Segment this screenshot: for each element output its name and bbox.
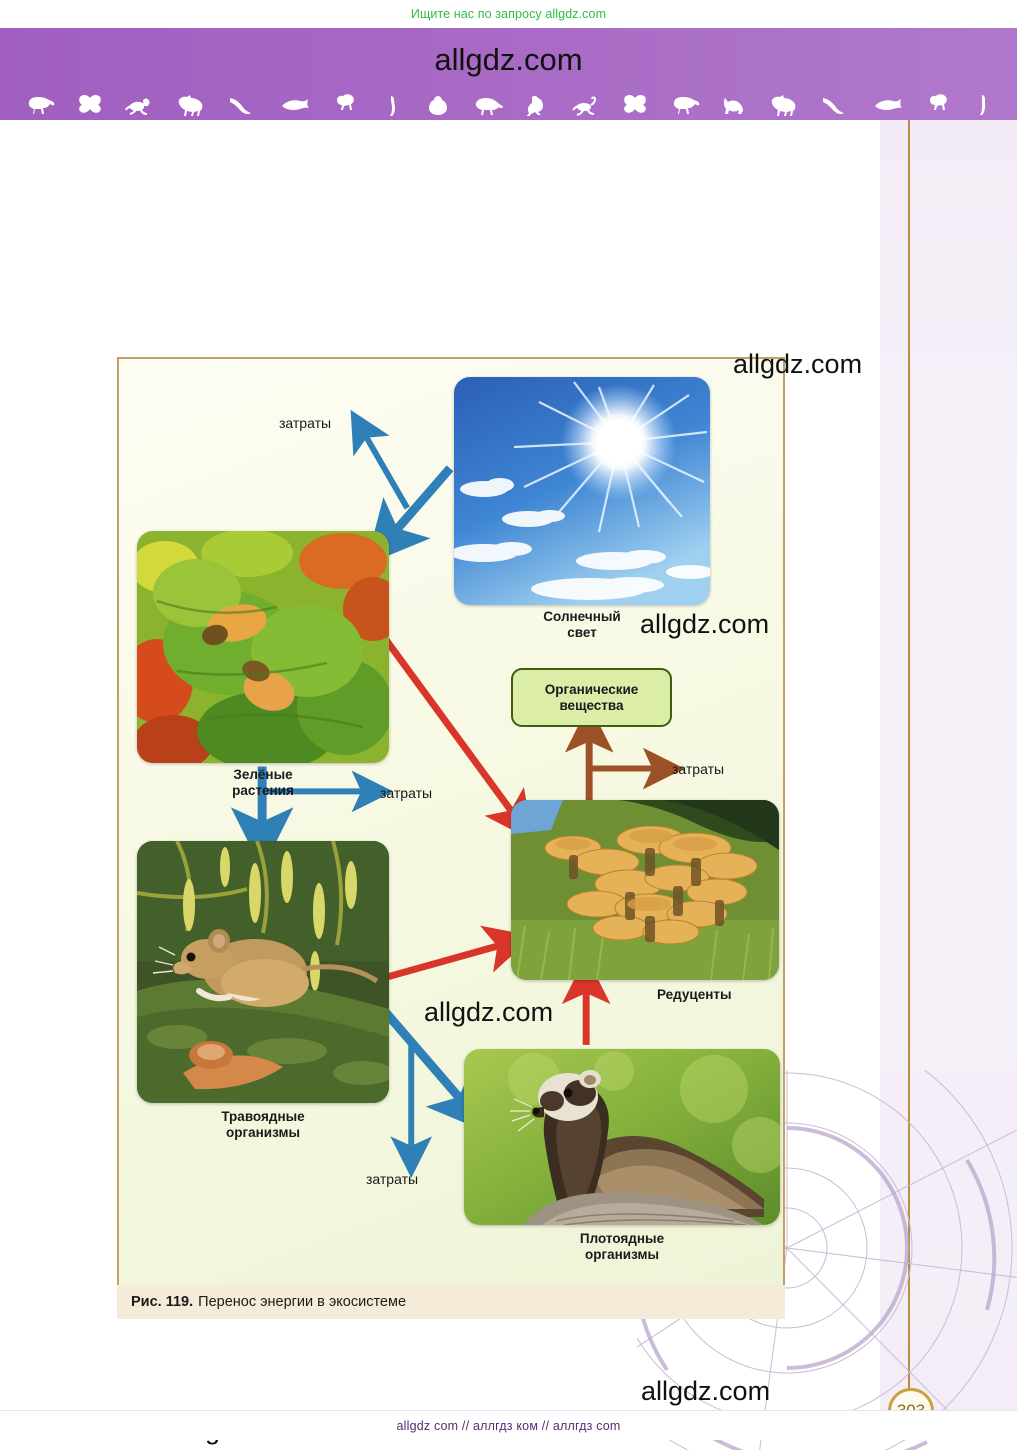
arrow-sun-energy-loss — [363, 431, 408, 509]
bird-icon — [821, 94, 851, 116]
site-banner: allgdz.com — [0, 28, 1017, 120]
site-title[interactable]: allgdz.com — [0, 42, 1017, 78]
watermark-allgdz-2: allgdz.com — [640, 609, 769, 640]
label-energy-loss-herbivores: затраты — [366, 1171, 418, 1187]
label-energy-loss-organic: затраты — [672, 761, 724, 777]
search-hint-text: Ищите нас по запросу allgdz.com — [411, 7, 606, 21]
label-green-plants: Зелёные растения — [137, 767, 389, 799]
figure-caption: Рис. 119. Перенос энергии в экосистеме — [117, 1285, 785, 1319]
photo-sunlight — [454, 377, 710, 605]
kangaroo-icon — [524, 94, 550, 116]
bison-icon — [670, 94, 700, 116]
beetle-icon — [425, 94, 451, 116]
fish-icon — [873, 94, 903, 116]
scorpion-icon — [124, 94, 154, 116]
label-energy-loss-sun: затраты — [279, 415, 331, 431]
figure-caption-text: Перенос энергии в экосистеме — [198, 1294, 406, 1310]
monkey-icon — [924, 94, 952, 116]
butterfly-icon — [77, 94, 103, 116]
horse-icon — [769, 94, 799, 116]
watermark-allgdz-3: allgdz.com — [424, 997, 553, 1028]
photo-herbivores — [137, 841, 389, 1103]
photo-decomposers — [511, 800, 779, 980]
page-right-margin — [880, 120, 1017, 1410]
footer-text: allgdz com // аллгдз ком // аллгдз com — [397, 1419, 621, 1433]
snake-icon — [974, 94, 992, 116]
arrow-sun-to-plants — [389, 468, 450, 538]
node-organic-substances[interactable]: Органические вещества — [511, 668, 672, 727]
label-herbivores: Травоядные организмы — [137, 1109, 389, 1141]
figure-energy-transfer: Солнечный свет — [117, 357, 785, 1319]
figure-caption-number: Рис. 119. — [131, 1294, 193, 1310]
watermark-allgdz-4: allgdz.com — [641, 1376, 770, 1407]
photo-green-plants — [137, 531, 389, 763]
butterfly-icon — [622, 94, 648, 116]
arrow-herbivores-to-decomposers — [375, 943, 506, 980]
label-carnivores: Плотоядные организмы — [464, 1231, 780, 1263]
scorpion-icon — [572, 94, 600, 116]
watermark-allgdz-1: allgdz.com — [733, 349, 862, 380]
horse-icon — [176, 94, 206, 116]
cat-icon — [721, 94, 747, 116]
lizard-icon — [381, 94, 403, 116]
photo-carnivores — [464, 1049, 780, 1225]
label-decomposers: Редуценты — [657, 987, 817, 1003]
fish-icon — [280, 94, 310, 116]
bull-icon — [473, 94, 503, 116]
site-footer: allgdz com // аллгдз ком // аллгдз com — [0, 1410, 1017, 1440]
bird-icon — [228, 94, 258, 116]
bison-icon — [25, 94, 55, 116]
animal-silhouette-strip — [0, 82, 1017, 116]
book-page: Солнечный свет — [0, 120, 1017, 1410]
vertical-gold-rule — [908, 120, 910, 1410]
label-energy-loss-plants: затраты — [380, 785, 432, 801]
monkey-icon — [331, 94, 359, 116]
search-hint-bar: Ищите нас по запросу allgdz.com — [0, 0, 1017, 28]
